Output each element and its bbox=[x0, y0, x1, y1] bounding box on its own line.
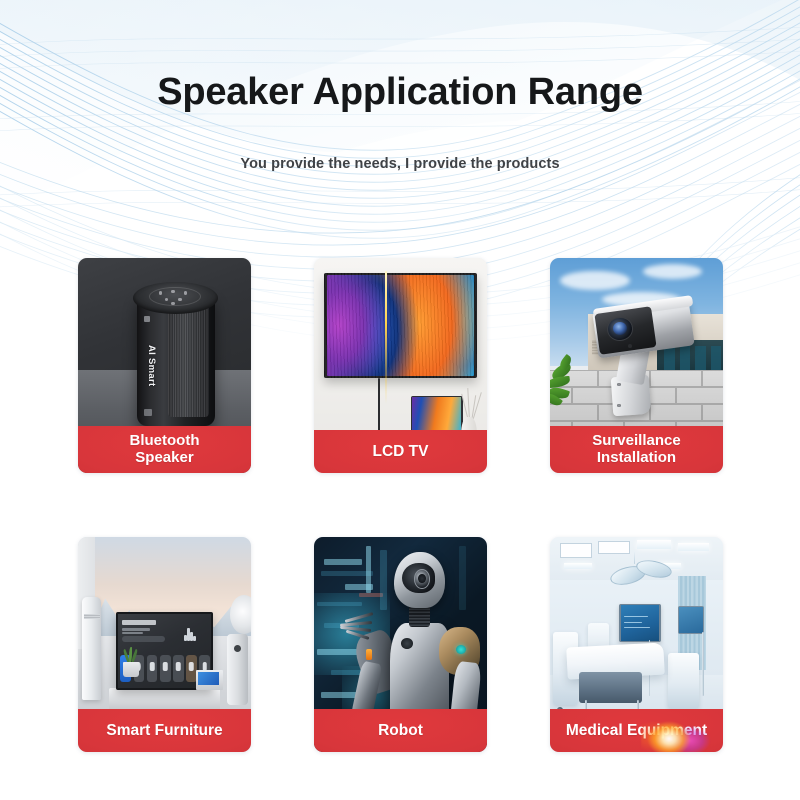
card-banner-smart-furniture: Smart Furniture bbox=[78, 709, 251, 752]
card-banner-robot: Robot bbox=[314, 709, 487, 752]
card-label-smart-furniture: Smart Furniture bbox=[106, 722, 222, 739]
card-banner-surveillance-installation: SurveillanceInstallation bbox=[550, 426, 723, 473]
card-banner-lcd-tv: LCD TV bbox=[314, 430, 487, 473]
page-title: Speaker Application Range bbox=[0, 72, 800, 114]
card-bluetooth-speaker[interactable]: AI Smart BluetoothSpeaker bbox=[78, 258, 251, 473]
speaker-application-range-page: Speaker Application Range You provide th… bbox=[0, 0, 800, 800]
card-label-surveillance-installation: SurveillanceInstallation bbox=[592, 433, 680, 467]
application-card-grid: AI Smart BluetoothSpeaker bbox=[78, 258, 723, 752]
card-label-bluetooth-speaker: BluetoothSpeaker bbox=[130, 433, 200, 467]
card-label-robot: Robot bbox=[378, 722, 423, 739]
card-robot[interactable]: Robot bbox=[314, 537, 487, 752]
card-medical-equipment[interactable]: Medical Equipment bbox=[550, 537, 723, 752]
card-banner-bluetooth-speaker: BluetoothSpeaker bbox=[78, 426, 251, 473]
page-subtitle: You provide the needs, I provide the pro… bbox=[0, 156, 800, 172]
card-smart-furniture[interactable]: Smart Furniture bbox=[78, 537, 251, 752]
card-lcd-tv[interactable]: LCD TV bbox=[314, 258, 487, 473]
card-surveillance-installation[interactable]: SurveillanceInstallation bbox=[550, 258, 723, 473]
card-banner-medical-equipment: Medical Equipment bbox=[550, 709, 723, 752]
card-label-medical-equipment: Medical Equipment bbox=[566, 722, 707, 739]
page-header: Speaker Application Range You provide th… bbox=[0, 0, 800, 172]
speaker-brand-text: AI Smart bbox=[140, 323, 162, 409]
card-label-lcd-tv: LCD TV bbox=[373, 443, 429, 460]
